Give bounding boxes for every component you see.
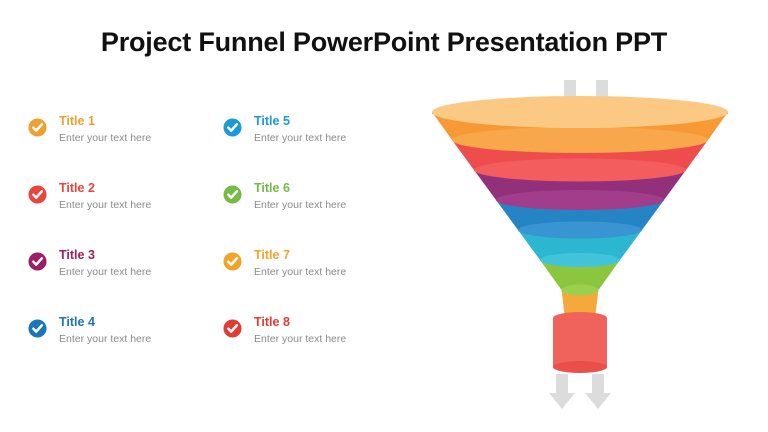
list-item-title: Title 7 — [254, 248, 290, 262]
list-item-subtitle: Enter your text here — [59, 265, 151, 279]
funnel-layer-1 — [432, 96, 728, 128]
list-item-title: Title 3 — [59, 248, 95, 262]
list-item-title: Title 4 — [59, 315, 95, 329]
list-item[interactable]: Title 7 Enter your text here — [223, 248, 413, 298]
list-item-subtitle: Enter your text here — [59, 198, 151, 212]
check-circle-icon — [28, 252, 47, 271]
list-item-title: Title 2 — [59, 181, 95, 195]
check-circle-icon — [223, 252, 242, 271]
list-item-title: Title 5 — [254, 114, 290, 128]
list-item[interactable]: Title 4 Enter your text here — [28, 315, 218, 365]
list-item-title: Title 6 — [254, 181, 290, 195]
list-item-subtitle: Enter your text here — [59, 332, 151, 346]
list-item-subtitle: Enter your text here — [254, 198, 346, 212]
list-item-subtitle: Enter your text here — [59, 131, 151, 145]
funnel-bottom-arrows — [549, 374, 611, 409]
list-item-title: Title 1 — [59, 114, 95, 128]
check-circle-icon — [223, 118, 242, 137]
list-item[interactable]: Title 1 Enter your text here — [28, 114, 218, 164]
funnel-diagram — [430, 62, 730, 417]
funnel-spout — [553, 312, 607, 373]
list-item-subtitle: Enter your text here — [254, 131, 346, 145]
list-item[interactable]: Title 2 Enter your text here — [28, 181, 218, 231]
check-circle-icon — [28, 319, 47, 338]
check-circle-icon — [223, 319, 242, 338]
page-title: Project Funnel PowerPoint Presentation P… — [0, 27, 768, 58]
check-circle-icon — [28, 185, 47, 204]
list-item[interactable]: Title 6 Enter your text here — [223, 181, 413, 231]
list-item-title: Title 8 — [254, 315, 290, 329]
check-circle-icon — [28, 118, 47, 137]
slide-canvas: Project Funnel PowerPoint Presentation P… — [0, 0, 768, 432]
list-item-subtitle: Enter your text here — [254, 265, 346, 279]
list-item[interactable]: Title 3 Enter your text here — [28, 248, 218, 298]
check-circle-icon — [223, 185, 242, 204]
list-item[interactable]: Title 8 Enter your text here — [223, 315, 413, 365]
list-item-subtitle: Enter your text here — [254, 332, 346, 346]
list-item[interactable]: Title 5 Enter your text here — [223, 114, 413, 164]
bullet-list: Title 1 Enter your text here Title 2 Ent… — [28, 114, 418, 364]
